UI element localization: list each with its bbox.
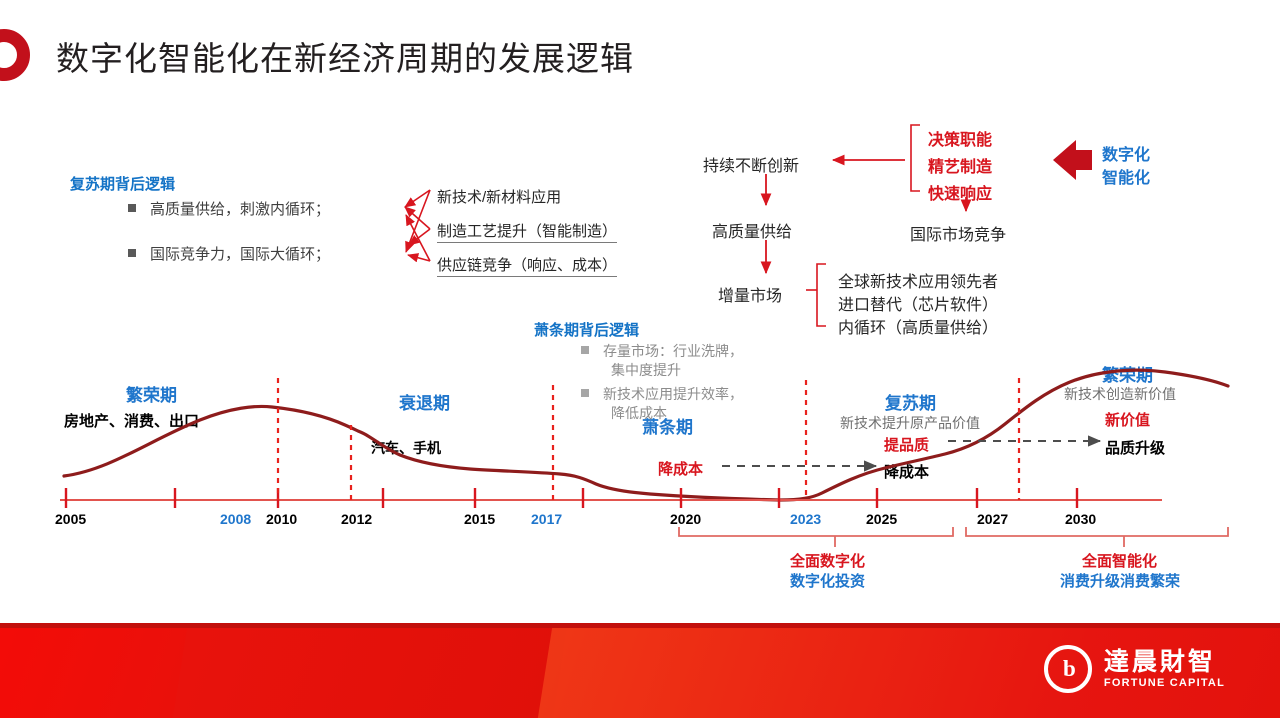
diagram-vector-layer bbox=[0, 0, 1280, 718]
brace-bottom bbox=[817, 264, 826, 326]
dashed-year-markers bbox=[278, 378, 1019, 500]
footer-sheen-2 bbox=[173, 628, 567, 718]
footer-brand-text: 達晨財智 FORTUNE CAPITAL bbox=[1104, 649, 1225, 690]
footer-brand-en: FORTUNE CAPITAL bbox=[1104, 676, 1225, 690]
flow-braces bbox=[806, 125, 920, 326]
footer-logo-letters: b bbox=[1063, 656, 1073, 682]
footer-logo: b 達晨財智 FORTUNE CAPITAL bbox=[1044, 645, 1225, 693]
flow-arrows bbox=[766, 160, 966, 273]
crossing-arrows bbox=[405, 190, 430, 261]
slide-root: 数字化智能化在新经济周期的发展逻辑 复苏期背后逻辑 高质量供给，刺激内循环； 国… bbox=[0, 0, 1280, 718]
brace-top bbox=[911, 125, 920, 191]
bracket-1 bbox=[679, 527, 953, 536]
range-brackets bbox=[679, 527, 1228, 547]
fortune-capital-mark-icon: b bbox=[1044, 645, 1092, 693]
footer-band: b 達晨財智 FORTUNE CAPITAL bbox=[0, 623, 1280, 718]
footer-brand-cn: 達晨財智 bbox=[1104, 649, 1225, 676]
callout-arrow-icon bbox=[1053, 140, 1092, 180]
bracket-2 bbox=[966, 527, 1228, 536]
axis-ticks bbox=[66, 488, 1077, 508]
economy-curve bbox=[64, 370, 1228, 500]
